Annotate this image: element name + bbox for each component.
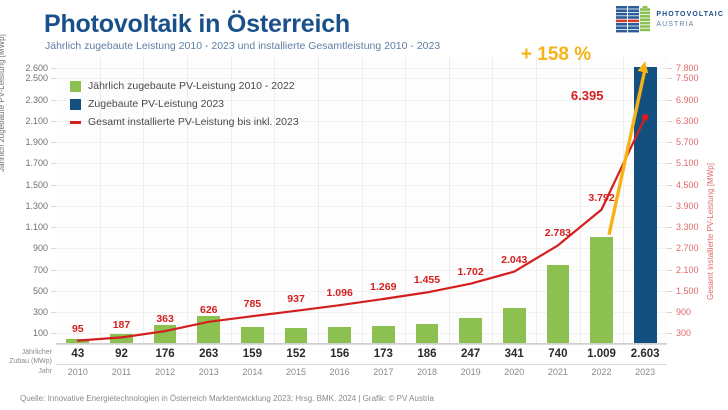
y-tick-left: 2.600 — [25, 63, 48, 73]
category-separator — [362, 57, 363, 344]
category-separator — [405, 57, 406, 344]
row-header-annual-line1: Jährlicher — [0, 349, 52, 358]
y-tick-mark-right — [667, 270, 672, 271]
y-tick-right: 3.300 — [676, 222, 699, 232]
y-tick-right: 300 — [676, 328, 691, 338]
y-tick-mark-right — [667, 227, 672, 228]
table-separator-mid — [56, 364, 667, 365]
line-value-2018: 1.455 — [414, 274, 440, 286]
y-tick-left: 1.500 — [25, 180, 48, 190]
y-tick-left: 1.300 — [25, 201, 48, 211]
y-tick-mark-left — [51, 227, 56, 228]
line-value-2012: 363 — [156, 313, 174, 325]
y-tick-left: 300 — [33, 307, 48, 317]
legend-color-swatch-icon — [70, 81, 81, 92]
bar-2023[interactable] — [634, 67, 657, 344]
table-cell-value-2011: 92 — [100, 348, 144, 360]
table-cell-year-2010: 2010 — [56, 367, 100, 377]
table-cell-year-2017: 2017 — [362, 367, 406, 377]
category-separator — [492, 57, 493, 344]
y-tick-left: 500 — [33, 286, 48, 296]
y-tick-right: 7.500 — [676, 73, 699, 83]
y-tick-mark-right — [667, 142, 672, 143]
y-tick-mark-left — [51, 291, 56, 292]
y-tick-right: 1.500 — [676, 286, 699, 296]
table-cell-year-2013: 2013 — [187, 367, 231, 377]
legend-item-label: Gesamt installierte PV-Leistung bis inkl… — [88, 116, 299, 128]
table-cell-year-2015: 2015 — [274, 367, 318, 377]
y-tick-mark-right — [667, 185, 672, 186]
table-cell-year-2019: 2019 — [449, 367, 493, 377]
legend-color-swatch-icon — [70, 99, 81, 110]
y-tick-mark-left — [51, 100, 56, 101]
y-tick-left: 700 — [33, 265, 48, 275]
page-subtitle: Jährlich zugebaute Leistung 2010 - 2023 … — [45, 40, 440, 52]
line-value-2020: 2.043 — [501, 254, 527, 266]
y-tick-mark-left — [51, 185, 56, 186]
bar-2014[interactable] — [241, 327, 264, 344]
y-tick-mark-right — [667, 206, 672, 207]
table-cell-year-2014: 2014 — [231, 367, 275, 377]
table-cell-year-2011: 2011 — [100, 367, 144, 377]
table-cell-year-2021: 2021 — [536, 367, 580, 377]
table-cell-value-2022: 1.009 — [580, 348, 624, 360]
table-cell-value-2023: 2.603 — [623, 348, 667, 360]
y-tick-right: 5.100 — [676, 158, 699, 168]
table-cell-value-2012: 176 — [143, 348, 187, 360]
table-cell-year-2012: 2012 — [143, 367, 187, 377]
y-tick-right: 4.500 — [676, 180, 699, 190]
y-tick-right: 5.700 — [676, 137, 699, 147]
bar-2016[interactable] — [328, 327, 351, 344]
y-tick-mark-left — [51, 206, 56, 207]
row-header-year: Jahr — [0, 368, 52, 377]
table-cell-value-2010: 43 — [56, 348, 100, 360]
category-separator — [449, 57, 450, 344]
table-cell-value-2013: 263 — [187, 348, 231, 360]
growth-annotation-label: + 158 % — [521, 44, 591, 66]
table-cell-year-2020: 2020 — [492, 367, 536, 377]
legend-item-label: Zugebaute PV-Leistung 2023 — [88, 98, 224, 110]
logo-text-line1: PHOTOVOLTAIC — [656, 10, 724, 19]
line-value-2021: 2.783 — [545, 227, 571, 239]
y-tick-mark-right — [667, 78, 672, 79]
y-tick-mark-left — [51, 333, 56, 334]
y-tick-mark-left — [51, 312, 56, 313]
line-value-2010: 95 — [72, 323, 84, 335]
line-value-2017: 1.269 — [370, 281, 396, 293]
y-tick-mark-right — [667, 100, 672, 101]
y-tick-right: 6.300 — [676, 116, 699, 126]
y-tick-mark-right — [667, 248, 672, 249]
y-tick-left: 2.300 — [25, 95, 48, 105]
pv-austria-logo-icon — [616, 6, 650, 33]
page-title: Photovoltaik in Österreich — [44, 10, 350, 39]
bar-2020[interactable] — [503, 308, 526, 344]
chart-legend: Jährlich zugebaute PV-Leistung 2010 - 20… — [70, 78, 299, 132]
y-tick-left: 1.900 — [25, 137, 48, 147]
y-tick-left: 100 — [33, 328, 48, 338]
category-separator — [318, 57, 319, 344]
table-cell-value-2019: 247 — [449, 348, 493, 360]
line-value-2015: 937 — [287, 293, 305, 305]
line-value-2011: 187 — [113, 319, 131, 331]
y-tick-mark-right — [667, 163, 672, 164]
legend-line-swatch-icon — [70, 121, 81, 124]
legend-item-1[interactable]: Zugebaute PV-Leistung 2023 — [70, 96, 299, 112]
line-value-2013: 626 — [200, 304, 218, 316]
y-tick-mark-left — [51, 270, 56, 271]
y-tick-mark-right — [667, 333, 672, 334]
table-cell-value-2021: 740 — [536, 348, 580, 360]
legend-item-2[interactable]: Gesamt installierte PV-Leistung bis inkl… — [70, 114, 299, 130]
bar-2017[interactable] — [372, 326, 395, 344]
bar-2019[interactable] — [459, 318, 482, 344]
logo: PHOTOVOLTAIC AUSTRIA — [616, 6, 724, 33]
y-tick-mark-left — [51, 78, 56, 79]
row-header-annual: Jährlicher Zubau (MWp) — [0, 349, 52, 367]
row-header-annual-line2: Zubau (MWp) — [0, 358, 52, 367]
y-tick-mark-left — [51, 163, 56, 164]
logo-text-line2: AUSTRIA — [656, 20, 724, 29]
line-value-2016: 1.096 — [327, 287, 353, 299]
table-cell-value-2014: 159 — [231, 348, 275, 360]
y-tick-mark-left — [51, 68, 56, 69]
category-separator — [536, 57, 537, 344]
source-footer: Quelle: Innovative Energietechnologien i… — [20, 394, 434, 403]
category-separator — [623, 57, 624, 344]
y-tick-right: 6.900 — [676, 95, 699, 105]
legend-item-label: Jährlich zugebaute PV-Leistung 2010 - 20… — [88, 80, 295, 92]
line-value-2019: 1.702 — [457, 266, 483, 278]
y-tick-right: 7.800 — [676, 63, 699, 73]
y-tick-left: 2.500 — [25, 73, 48, 83]
table-cell-year-2018: 2018 — [405, 367, 449, 377]
table-cell-value-2017: 173 — [362, 348, 406, 360]
y-tick-right: 900 — [676, 307, 691, 317]
table-cell-year-2016: 2016 — [318, 367, 362, 377]
y-tick-mark-right — [667, 121, 672, 122]
table-cell-value-2016: 156 — [318, 348, 362, 360]
y-tick-left: 1.700 — [25, 158, 48, 168]
y-tick-mark-right — [667, 68, 672, 69]
y-tick-mark-left — [51, 121, 56, 122]
y-tick-left: 1.100 — [25, 222, 48, 232]
table-cell-year-2022: 2022 — [580, 367, 624, 377]
y-tick-right: 2.700 — [676, 243, 699, 253]
table-cell-value-2015: 152 — [274, 348, 318, 360]
bar-2015[interactable] — [285, 328, 308, 344]
y-tick-right: 3.900 — [676, 201, 699, 211]
line-value-2014: 785 — [244, 298, 262, 310]
line-value-2022: 3.792 — [588, 192, 614, 204]
y-tick-left: 2.100 — [25, 116, 48, 126]
y-tick-mark-right — [667, 312, 672, 313]
bar-2012[interactable] — [154, 325, 177, 344]
y-tick-left: 900 — [33, 243, 48, 253]
legend-item-0[interactable]: Jährlich zugebaute PV-Leistung 2010 - 20… — [70, 78, 299, 94]
y-tick-mark-left — [51, 248, 56, 249]
line-value-2023: 6.395 — [571, 88, 604, 103]
bar-2021[interactable] — [547, 265, 570, 344]
bar-2022[interactable] — [590, 237, 613, 344]
y-tick-mark-left — [51, 142, 56, 143]
y-axis-title-left: Jährlich zugebaute PV-Leistung [MWp] — [0, 34, 6, 172]
y-axis-title-right: Gesamt installierte PV-Leistung [MWp] — [706, 163, 715, 300]
bar-2013[interactable] — [197, 316, 220, 344]
bar-2018[interactable] — [416, 324, 439, 344]
y-tick-right: 2.100 — [676, 265, 699, 275]
table-cell-value-2020: 341 — [492, 348, 536, 360]
table-cell-value-2018: 186 — [405, 348, 449, 360]
table-cell-year-2023: 2023 — [623, 367, 667, 377]
y-tick-mark-right — [667, 291, 672, 292]
table-separator-top — [56, 344, 667, 345]
